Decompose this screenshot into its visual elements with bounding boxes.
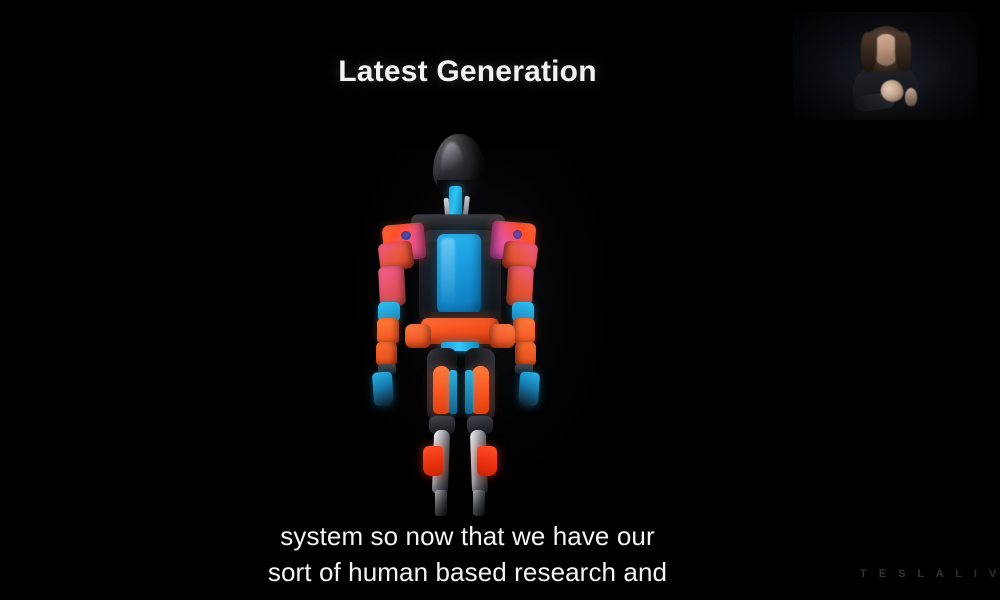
watermark-live: L I V E bbox=[955, 568, 1000, 580]
robot-forearm-left-lower bbox=[376, 342, 397, 366]
presenter-video-inset[interactable] bbox=[793, 12, 977, 120]
video-player-frame: Latest Generation bbox=[0, 0, 1000, 600]
subtitle-line-2: sort of human based research and bbox=[0, 554, 935, 590]
robot-thigh-cable-right bbox=[465, 370, 473, 414]
robot-upper-arm-left bbox=[378, 265, 406, 306]
robot-hip-right bbox=[489, 324, 515, 348]
robot-chest-highlight bbox=[441, 238, 455, 304]
robot-quad-actuator-right bbox=[472, 366, 489, 414]
robot-shoulder-port-right bbox=[513, 230, 522, 239]
robot-hand-right bbox=[518, 371, 540, 406]
robot-thigh-cable-left bbox=[449, 370, 457, 414]
broadcast-watermark: T E S L A L I V E bbox=[860, 568, 1000, 580]
subtitle-line-1: system so now that we have our bbox=[0, 518, 935, 554]
presenter-vignette bbox=[793, 12, 977, 120]
robot-hip-left bbox=[405, 324, 431, 348]
humanoid-robot bbox=[345, 130, 620, 530]
robot-quad-actuator-left bbox=[433, 366, 450, 414]
robot-forearm-right-upper bbox=[513, 318, 535, 344]
subtitle-overlay: system so now that we have our sort of h… bbox=[0, 518, 935, 590]
robot-upper-arm-right bbox=[506, 265, 534, 306]
robot-shoulder-port-left bbox=[401, 231, 411, 240]
robot-hand-left bbox=[372, 371, 394, 406]
robot-calf-actuator-right bbox=[477, 446, 497, 476]
robot-forearm-left-upper bbox=[377, 318, 399, 344]
robot-pelvis bbox=[421, 318, 499, 344]
robot-calf-actuator-left bbox=[423, 446, 443, 476]
robot-forearm-right-lower bbox=[515, 342, 536, 366]
watermark-brand: T E S L A bbox=[860, 568, 948, 580]
